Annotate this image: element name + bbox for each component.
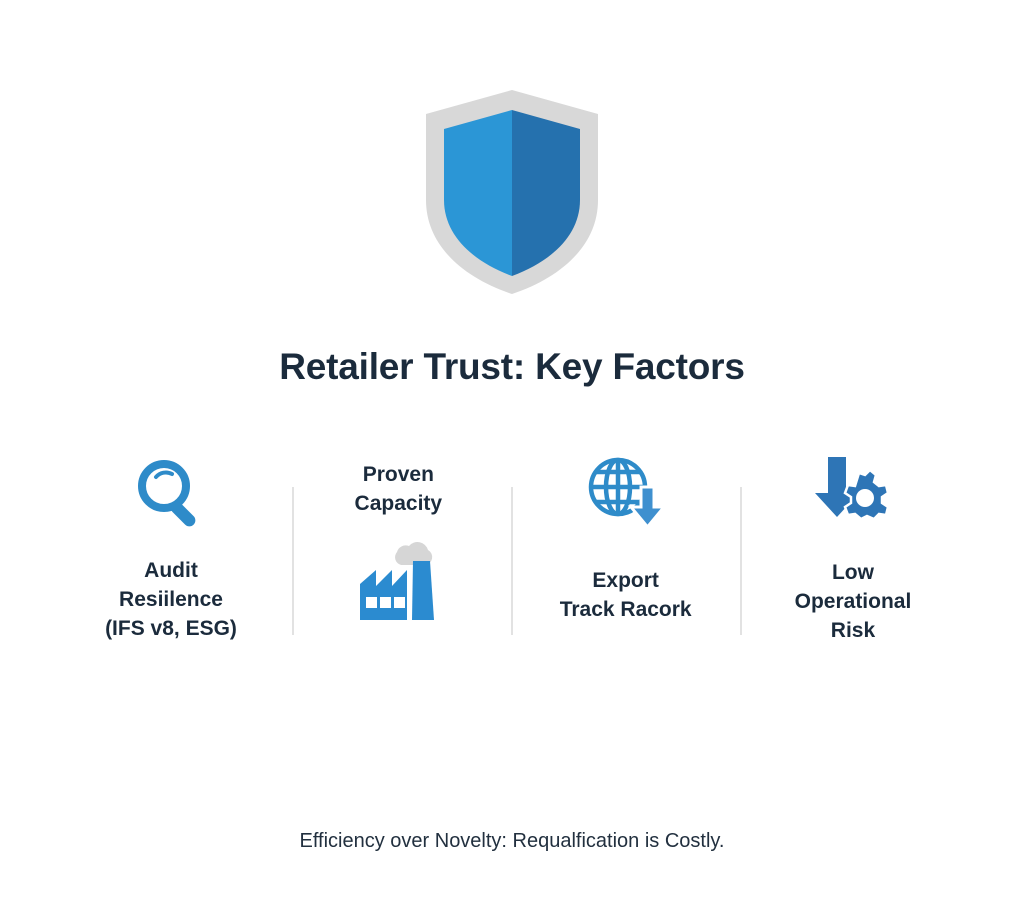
factor-proven-capacity[interactable]: Proven Capacity	[289, 443, 507, 663]
magnifier-icon	[132, 455, 210, 533]
factory-icon	[350, 534, 446, 626]
footer-note: Efficiency over Novelty: Requalfication …	[0, 828, 1024, 854]
factor-label: Low Operational Risk	[795, 559, 912, 646]
factor-export-track-record[interactable]: Export Track Racork	[517, 443, 735, 663]
factor-label: Proven Capacity	[355, 461, 443, 519]
globe-download-icon	[584, 454, 668, 534]
page-title: Retailer Trust: Key Factors	[0, 345, 1024, 389]
hero-icon-area	[0, 88, 1024, 303]
factor-low-operational-risk[interactable]: Low Operational Risk	[744, 443, 962, 663]
factor-audit-resilience[interactable]: Audit Resiilence (IFS v8, ESG)	[62, 443, 280, 663]
factor-label: Audit Resiilence (IFS v8, ESG)	[105, 557, 237, 644]
shield-icon	[422, 88, 602, 296]
arrow-gear-icon	[813, 453, 893, 531]
factor-label: Export Track Racork	[560, 567, 692, 625]
infographic-slide: Retailer Trust: Key Factors Audit Resiil…	[0, 0, 1024, 913]
factors-row: Audit Resiilence (IFS v8, ESG) Proven Ca…	[62, 443, 962, 663]
icon-container	[744, 451, 962, 533]
icon-container	[289, 535, 507, 625]
icon-container	[62, 453, 280, 535]
icon-container	[517, 451, 735, 537]
